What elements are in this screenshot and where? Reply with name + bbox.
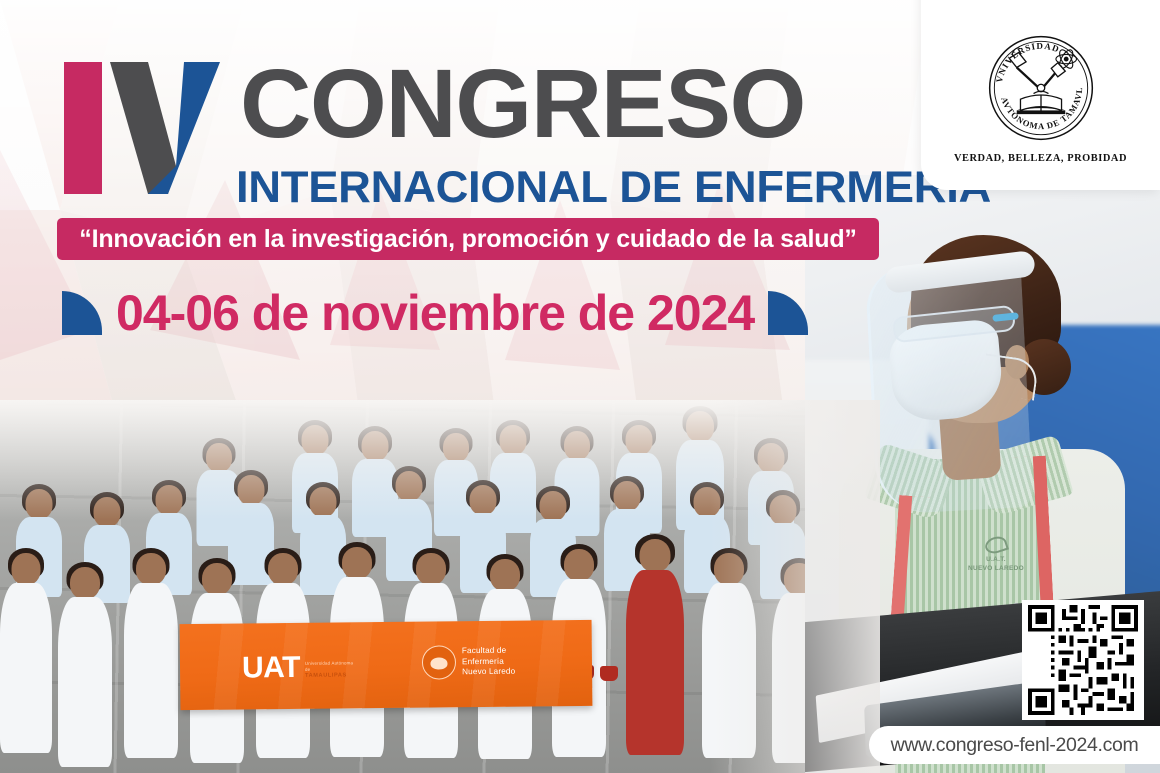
edition-numeral-iv xyxy=(60,58,220,194)
uat-event-banner: UAT Universidad Autónoma de TAMAULIPAS F… xyxy=(180,620,593,710)
group-photo-right-fade xyxy=(710,400,880,773)
page-title: CONGRESO xyxy=(240,58,805,149)
tagline-text: “Innovación en la investigación, promoci… xyxy=(79,225,856,254)
faculty-seal-icon xyxy=(422,645,456,679)
group-photo: UAT Universidad Autónoma de TAMAULIPAS F… xyxy=(0,400,880,773)
wedge-left-icon xyxy=(62,291,102,335)
tagline-bar: “Innovación en la investigación, promoci… xyxy=(57,218,879,260)
uat-logo: UAT Universidad Autónoma de TAMAULIPAS xyxy=(242,652,359,683)
faculty-line-1: Facultad de xyxy=(462,646,515,657)
uat-acronym: UAT xyxy=(242,653,300,684)
faculty-lines: Facultad de Enfermería Nuevo Laredo xyxy=(462,646,516,679)
uniform-embroidery: U.A.T.NUEVO LAREDO xyxy=(965,537,1027,587)
faculty-line-2: Enfermería xyxy=(462,656,515,667)
faculty-logo: Facultad de Enfermería Nuevo Laredo xyxy=(422,645,516,680)
website-url: www.congreso-fenl-2024.com xyxy=(891,734,1139,757)
website-url-pill[interactable]: www.congreso-fenl-2024.com xyxy=(869,726,1160,764)
event-date-row: 04-06 de noviembre de 2024 xyxy=(62,284,808,342)
qr-code-icon[interactable] xyxy=(1022,600,1144,720)
uat-institution-line-1: Universidad Autónoma de xyxy=(305,660,359,672)
page-subtitle: INTERNACIONAL DE ENFERMERÍA xyxy=(236,163,991,213)
university-motto: VERDAD, BELLEZA, PROBIDAD xyxy=(954,153,1127,164)
uat-institution-line-2: TAMAULIPAS xyxy=(305,672,359,680)
embroidery-swirl-icon xyxy=(983,534,1009,556)
faculty-line-3: Nuevo Laredo xyxy=(462,667,515,678)
wedge-right-icon xyxy=(768,291,808,335)
university-seal-icon: VNIVERSIDAD AVTONOMA DE TAMAVLIPAS xyxy=(985,32,1097,144)
congress-poster: UAT Universidad Autónoma de TAMAULIPAS F… xyxy=(0,0,1160,773)
uat-institution-lines: Universidad Autónoma de TAMAULIPAS xyxy=(305,660,359,683)
university-logo-card: VNIVERSIDAD AVTONOMA DE TAMAVLIPAS VERDA… xyxy=(921,0,1160,190)
prop-bucket xyxy=(600,666,618,681)
event-date: 04-06 de noviembre de 2024 xyxy=(116,284,754,342)
